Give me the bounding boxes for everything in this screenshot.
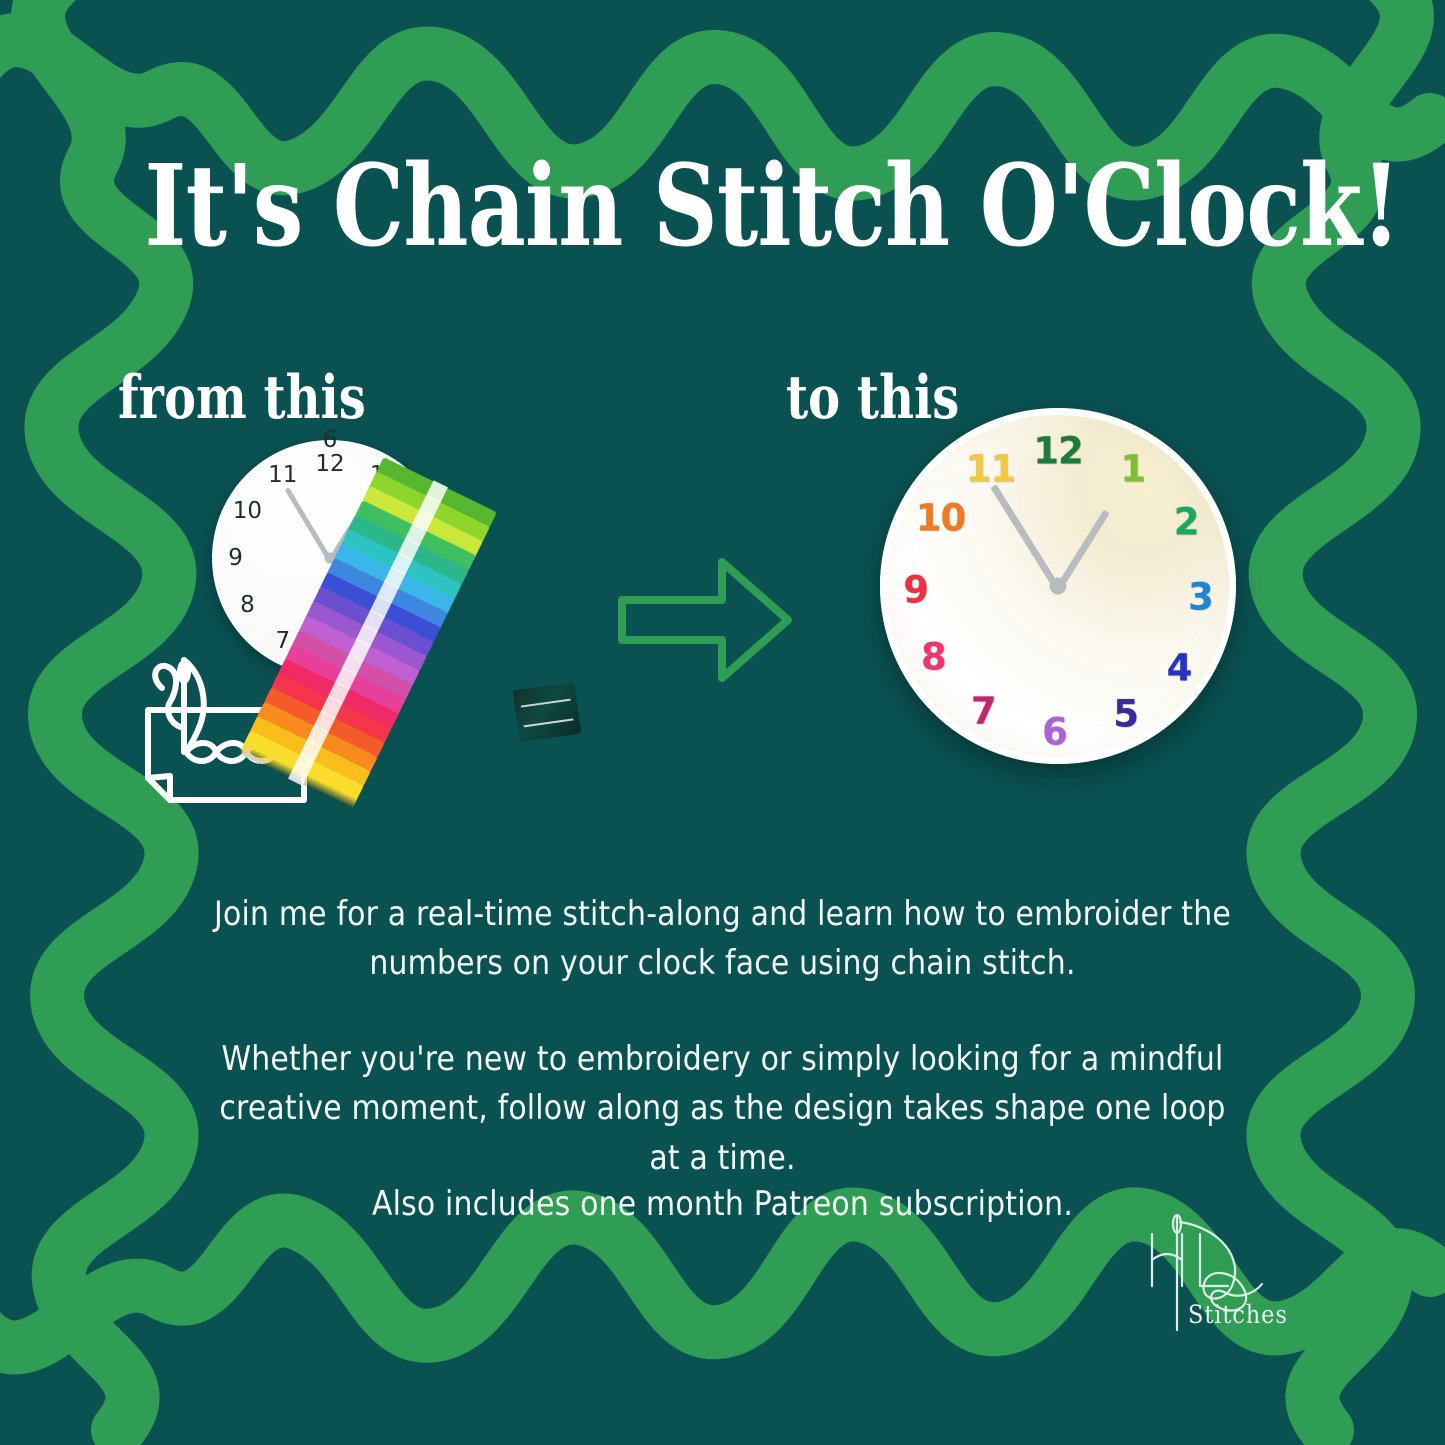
clock-before-number: 12 (315, 451, 344, 477)
clock-after-number: 1 (1120, 447, 1145, 490)
clock-before-number: 6 (323, 427, 338, 453)
body-paragraph-3: Also includes one month Patreon subscrip… (210, 1180, 1235, 1229)
clock-before-number: 8 (240, 592, 255, 618)
clock-before-minute-hand (285, 487, 333, 562)
body-paragraph-1: Join me for a real-time stitch-along and… (210, 890, 1235, 989)
poster-canvas: It's Chain Stitch O'Clock! from this to … (0, 0, 1445, 1445)
clock-after-number: 3 (1188, 575, 1213, 618)
clock-after-number: 11 (966, 447, 1016, 490)
needle-case (513, 682, 582, 742)
clock-after-center-cap (1050, 578, 1067, 595)
clock-before-number: 7 (275, 628, 290, 654)
body-paragraph-2: Whether you're new to embroidery or simp… (210, 1035, 1235, 1183)
clock-after-number: 10 (916, 497, 966, 540)
caption-to-this: to this (786, 368, 959, 428)
clock-after-number: 12 (1033, 429, 1083, 472)
right-arrow-icon (618, 556, 792, 684)
clock-after-number: 5 (1113, 693, 1138, 736)
clock-before-number: 10 (233, 498, 262, 524)
clock-after-number: 6 (1042, 710, 1067, 753)
brand-logo: Stitches (1128, 1212, 1342, 1344)
clock-after-number: 2 (1174, 500, 1199, 543)
clock-before-number: 9 (228, 545, 243, 571)
clock-before-number: 11 (268, 462, 297, 488)
caption-from-this: from this (118, 368, 366, 428)
clock-after-number: 9 (903, 568, 928, 611)
clock-after: 12 1 2 3 4 5 6 7 8 9 10 11 (880, 408, 1236, 764)
page-title: It's Chain Stitch O'Clock! (145, 148, 1301, 266)
clock-after-number: 8 (921, 636, 946, 679)
clock-after-number: 4 (1167, 646, 1192, 689)
logo-wordmark: Stitches (1188, 1300, 1288, 1329)
clock-after-number: 7 (971, 689, 996, 732)
